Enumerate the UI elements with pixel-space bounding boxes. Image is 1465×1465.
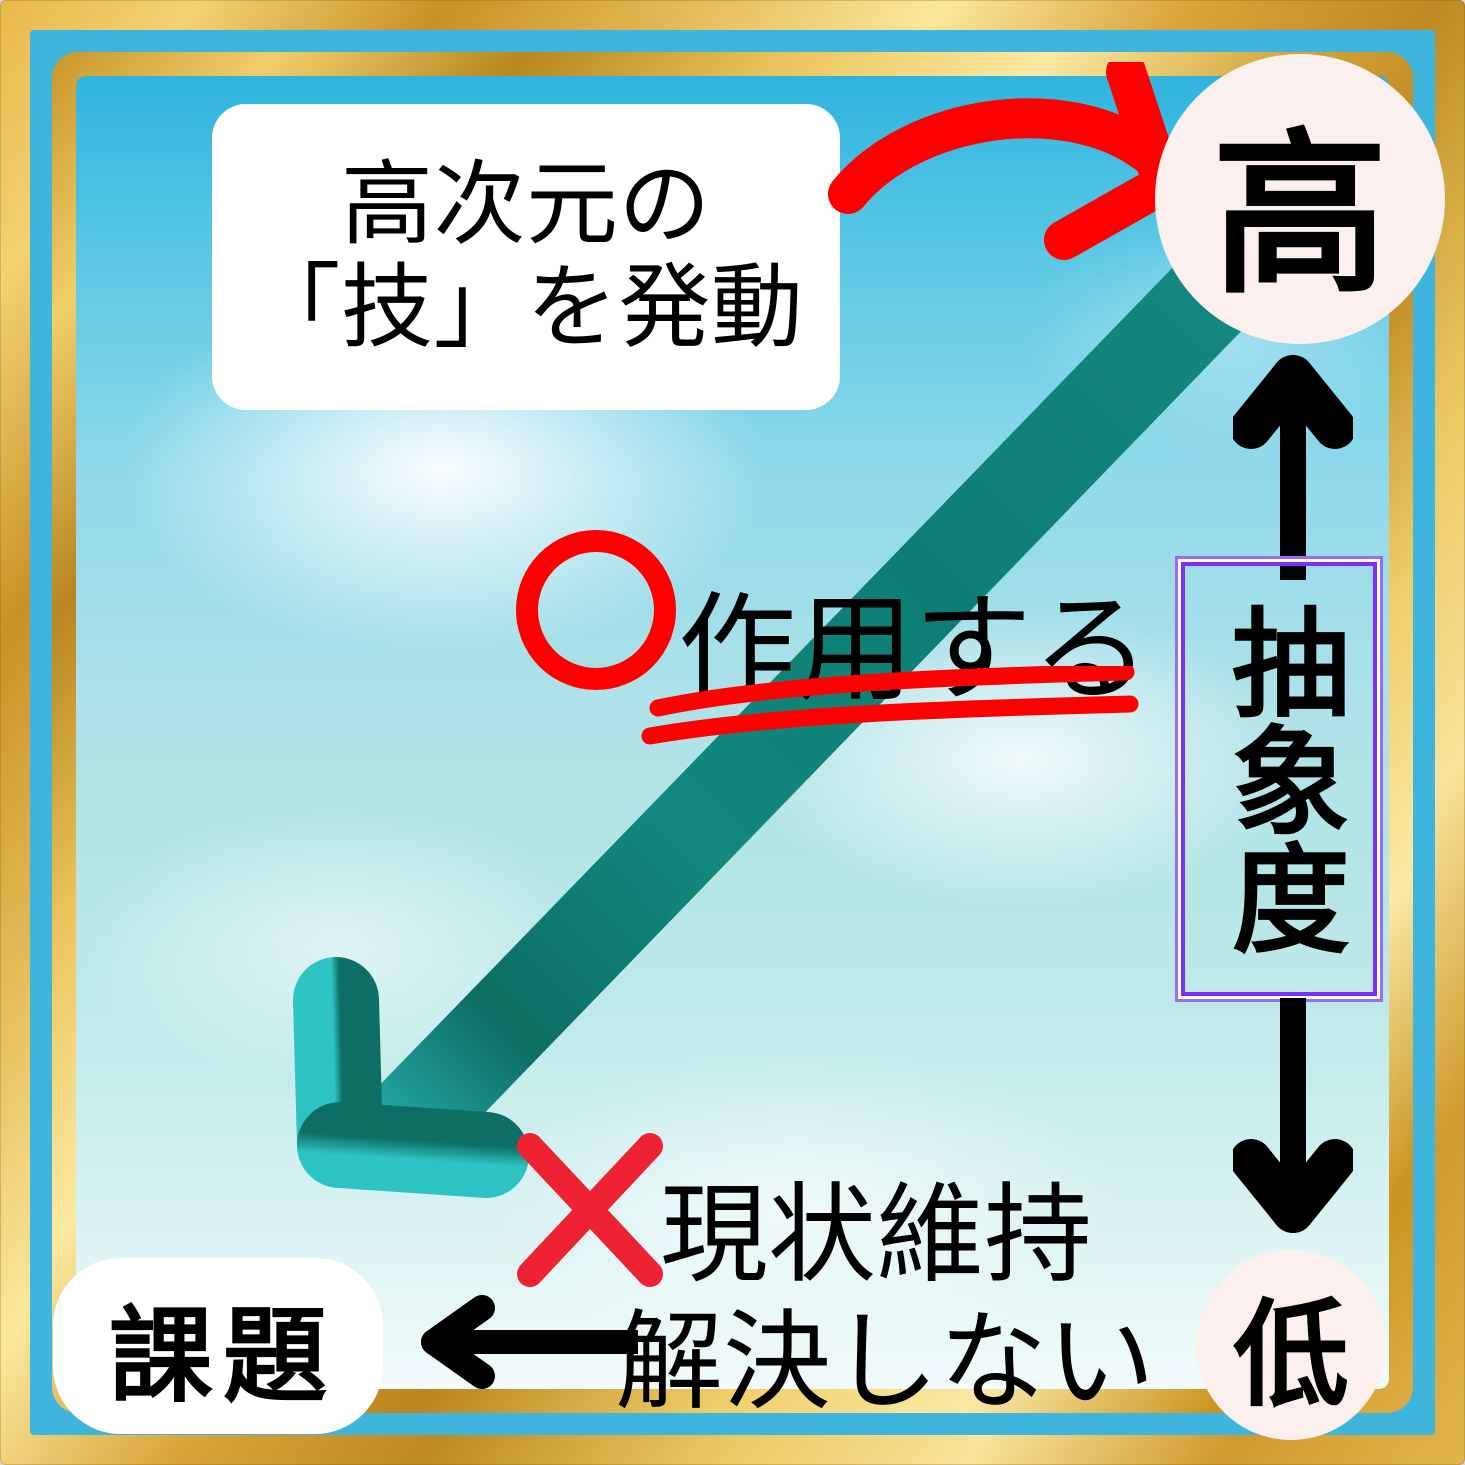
axis-label: 抽象度 [1215,602,1344,956]
negative-annotation-line-2: 解決しない [615,1275,1155,1431]
callout-box: 高次元の 「技」を発動 [212,104,840,410]
node-low-label: 低 [1233,1261,1349,1429]
node-task: 課題 [53,1258,383,1434]
callout-line-2: 「技」を発動 [248,257,803,360]
node-high: 高 [1155,54,1445,344]
node-low: 低 [1196,1250,1386,1440]
node-task-label: 課題 [99,1271,337,1422]
circle-mark-icon [516,530,676,690]
callout-line-1: 高次元の [341,154,711,257]
axis-label-box: 抽象度 [1181,562,1377,996]
node-high-label: 高 [1212,72,1388,327]
diagram-canvas: 高次元の 「技」を発動 高 抽象度 低 課 [0,0,1465,1465]
positive-annotation-label: 作用する [678,553,1150,724]
